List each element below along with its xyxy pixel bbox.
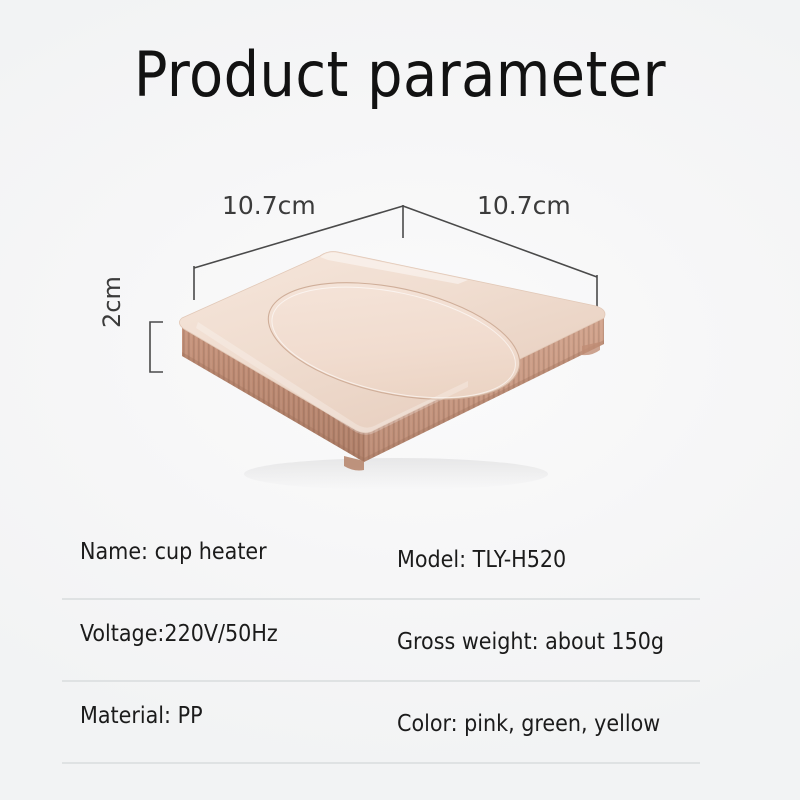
spec-voltage: Voltage:220V/50Hz xyxy=(80,620,278,648)
product-parameter-page: Product parameter 10.7cm 10.7cm 2cm xyxy=(0,0,800,800)
dimension-label-height: 2cm xyxy=(98,276,126,328)
product-shadow xyxy=(244,458,548,490)
table-row: Voltage:220V/50Hz Gross weight: about 15… xyxy=(62,600,700,682)
spec-material: Material: PP xyxy=(80,702,203,730)
spec-model: Model: TLY-H520 xyxy=(397,546,566,574)
cup-heater-illustration xyxy=(168,248,618,498)
dimension-label-width-left: 10.7cm xyxy=(222,192,316,220)
spec-gross-weight: Gross weight: about 150g xyxy=(397,628,664,656)
page-title: Product parameter xyxy=(0,38,800,112)
dimension-label-width-right: 10.7cm xyxy=(477,192,571,220)
spec-color: Color: pink, green, yellow xyxy=(397,710,660,738)
spec-name: Name: cup heater xyxy=(80,538,267,566)
table-row: Name: cup heater Model: TLY-H520 xyxy=(62,518,700,600)
spec-table: Name: cup heater Model: TLY-H520 Voltage… xyxy=(62,518,700,764)
table-row: Material: PP Color: pink, green, yellow xyxy=(62,682,700,764)
product-image xyxy=(168,248,618,498)
height-bracket xyxy=(150,322,163,372)
